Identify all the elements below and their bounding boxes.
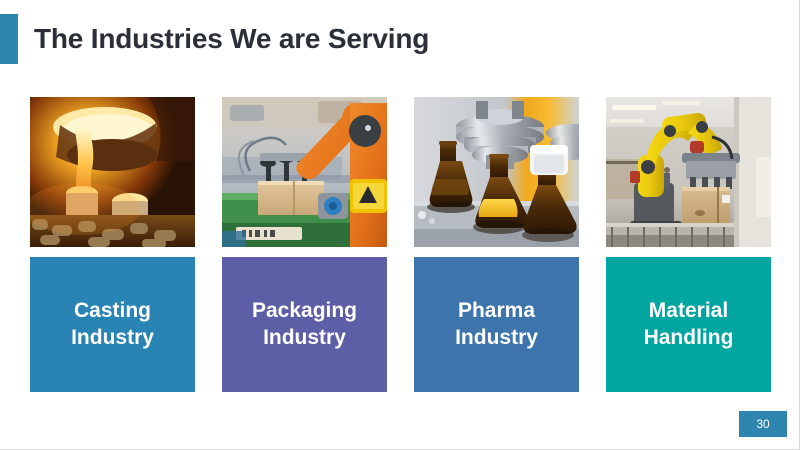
industry-tile-casting[interactable]: Casting Industry: [30, 257, 195, 392]
industry-label-line1: Packaging: [252, 299, 357, 322]
industry-label-line2: Industry: [263, 326, 346, 349]
page-number-badge: 30: [739, 411, 787, 437]
industry-tile-material-handling[interactable]: Material Handling: [606, 257, 771, 392]
industry-card-casting[interactable]: Casting Industry: [30, 97, 195, 392]
industry-label-line2: Handling: [644, 326, 734, 349]
industry-tile-packaging[interactable]: Packaging Industry: [222, 257, 387, 392]
foundry-molten-metal-pour-photo: [30, 97, 195, 247]
slide: The Industries We are Serving: [0, 0, 800, 450]
industry-card-pharma[interactable]: Pharma Industry: [414, 97, 579, 392]
industry-label-line1: Casting: [74, 299, 151, 322]
industry-card-material-handling[interactable]: Material Handling: [606, 97, 771, 392]
material-handling-palletizing-robot-photo: [606, 97, 771, 247]
industry-label-line2: Industry: [71, 326, 154, 349]
industry-tile-pharma[interactable]: Pharma Industry: [414, 257, 579, 392]
title-accent-bar: [0, 14, 18, 64]
industry-label-line1: Pharma: [458, 299, 535, 322]
slide-title-row: The Industries We are Serving: [0, 14, 429, 64]
industry-label-line2: Industry: [455, 326, 538, 349]
industry-label-line1: Material: [649, 299, 728, 322]
page-title: The Industries We are Serving: [34, 23, 429, 55]
industry-card-packaging[interactable]: Packaging Industry: [222, 97, 387, 392]
packaging-robot-arm-photo: [222, 97, 387, 247]
industry-card-list: Casting Industry: [30, 97, 780, 392]
pharma-bottle-filling-photo: [414, 97, 579, 247]
